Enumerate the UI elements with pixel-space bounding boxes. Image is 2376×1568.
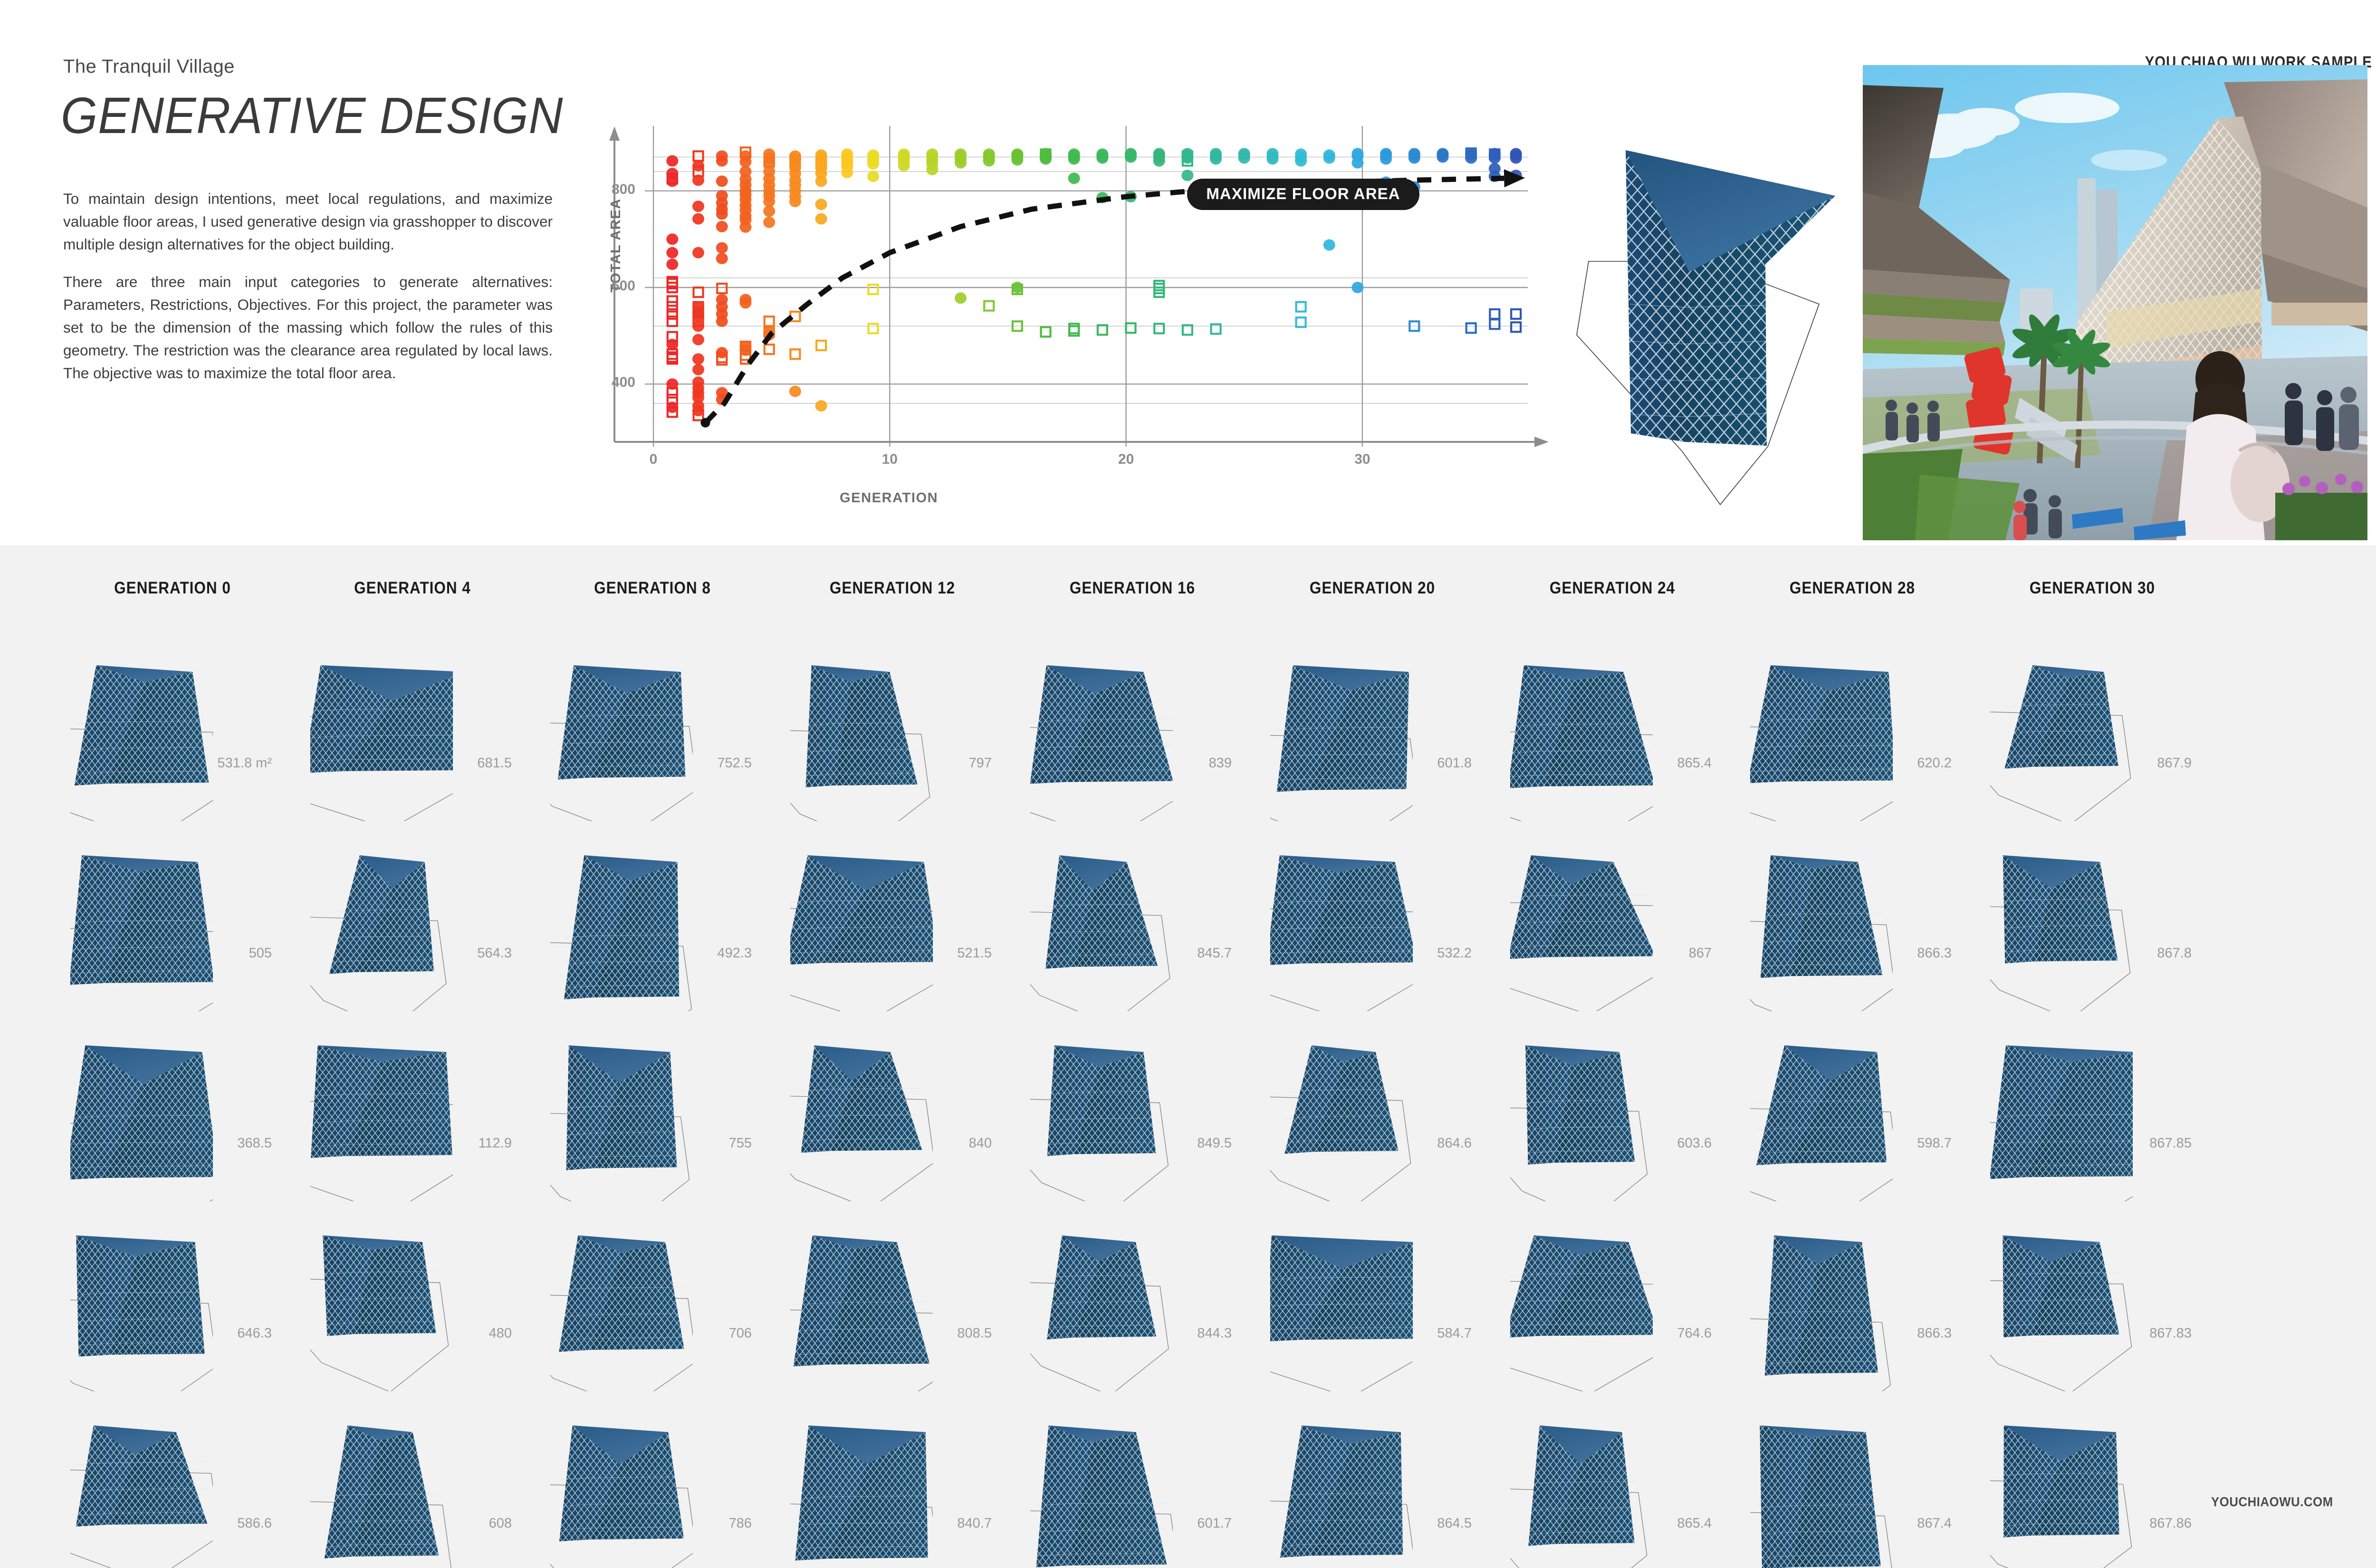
generation-cell[interactable]: 844.3 bbox=[1030, 1206, 1235, 1396]
generation-header-2: GENERATION 8 bbox=[561, 579, 745, 598]
cell-area-value: 864.5 bbox=[1437, 1516, 1472, 1531]
chart-gridlines bbox=[645, 126, 1528, 447]
cell-area-value: 867.83 bbox=[2149, 1326, 2192, 1341]
massing-thumbnail bbox=[1750, 1396, 1893, 1568]
generation-cell[interactable]: 764.6 bbox=[1510, 1206, 1715, 1396]
cell-area-value: 603.6 bbox=[1677, 1136, 1712, 1151]
generation-cell[interactable]: 531.8 m² bbox=[70, 636, 275, 826]
tower-massing bbox=[1761, 855, 1883, 978]
generation-cell[interactable]: 797 bbox=[790, 636, 995, 826]
tower-massing bbox=[1760, 1425, 1881, 1568]
generation-cell[interactable]: 603.6 bbox=[1510, 1016, 1715, 1206]
tower-massing bbox=[75, 665, 209, 785]
tower-massing bbox=[795, 1425, 928, 1560]
project-subtitle: The Tranquil Village bbox=[63, 56, 235, 77]
cell-area-value: 601.8 bbox=[1437, 755, 1472, 771]
cell-area-value: 521.5 bbox=[957, 946, 992, 961]
cell-area-value: 867.4 bbox=[1917, 1516, 1952, 1531]
tower-massing bbox=[1765, 1235, 1878, 1376]
massing-thumbnail bbox=[1750, 826, 1893, 1011]
tower-massing bbox=[794, 1235, 930, 1367]
x-tick-10: 10 bbox=[871, 451, 909, 468]
massing-thumbnail bbox=[1990, 1206, 2133, 1391]
tower-massing bbox=[1036, 1425, 1167, 1568]
cell-area-value: 646.3 bbox=[237, 1326, 272, 1341]
generation-scatter-chart: TOTAL AREA GENERATION 400600800 0102030 … bbox=[596, 81, 1585, 527]
generation-cell[interactable]: 532.2 bbox=[1270, 826, 1475, 1016]
tower-massing bbox=[559, 1235, 684, 1352]
tower-massing bbox=[1510, 1235, 1653, 1338]
cell-area-value: 786 bbox=[729, 1516, 752, 1531]
tower-massing bbox=[1284, 1045, 1398, 1154]
massing-thumbnail bbox=[1270, 1206, 1413, 1391]
massing-thumbnail bbox=[1990, 1016, 2133, 1201]
hero-massing-svg bbox=[1563, 119, 1868, 513]
massing-thumbnail bbox=[1750, 1206, 1893, 1391]
cell-area-value: 586.6 bbox=[237, 1516, 272, 1531]
cell-area-value: 764.6 bbox=[1677, 1326, 1712, 1341]
generation-cell[interactable]: 112.9 bbox=[310, 1016, 515, 1206]
massing-thumbnail bbox=[310, 636, 453, 821]
generation-cell[interactable]: 752.5 bbox=[550, 636, 755, 826]
cell-area-value: 532.2 bbox=[1437, 946, 1472, 961]
massing-thumbnail bbox=[70, 826, 213, 1011]
tower-massing bbox=[1525, 1045, 1635, 1165]
cell-area-value: 808.5 bbox=[957, 1326, 992, 1341]
generation-cell[interactable]: 584.7 bbox=[1270, 1206, 1475, 1396]
hero-massing-model bbox=[1563, 119, 1868, 513]
generation-cell[interactable]: 867.85 bbox=[1990, 1016, 2194, 1206]
cell-area-value: 598.7 bbox=[1917, 1136, 1952, 1151]
header-band: The Tranquil Village GENERATIVE DESIGN T… bbox=[0, 0, 2376, 539]
cell-area-value: 864.6 bbox=[1437, 1136, 1472, 1151]
tower-massing bbox=[1280, 1425, 1403, 1558]
generation-cell[interactable]: 840 bbox=[790, 1016, 995, 1206]
tower-massing bbox=[2003, 855, 2118, 963]
massing-thumbnail bbox=[1270, 1396, 1413, 1568]
generation-cell[interactable]: 521.5 bbox=[790, 826, 995, 1016]
cell-area-value: 865.4 bbox=[1677, 755, 1712, 771]
tower-massing bbox=[558, 665, 686, 780]
cell-area-value: 866.3 bbox=[1917, 946, 1952, 961]
cell-area-value: 564.3 bbox=[477, 946, 512, 961]
cell-area-value: 755 bbox=[729, 1136, 752, 1151]
massing-thumbnail bbox=[790, 636, 933, 821]
tower-massing bbox=[1270, 855, 1413, 965]
massing-thumbnail bbox=[790, 1396, 933, 1568]
massing-thumbnail bbox=[70, 1206, 213, 1391]
y-tick-600: 600 bbox=[583, 278, 635, 294]
tower-massing bbox=[559, 1425, 684, 1541]
tower-massing bbox=[566, 1045, 677, 1170]
tower-massing bbox=[2003, 1425, 2119, 1538]
generation-cell[interactable]: 849.5 bbox=[1030, 1016, 1235, 1206]
cell-area-value: 844.3 bbox=[1197, 1326, 1232, 1341]
massing-thumbnail bbox=[1270, 826, 1413, 1011]
generation-cell[interactable]: 867.9 bbox=[1990, 636, 2194, 826]
tower-massing bbox=[2004, 665, 2118, 769]
cell-area-value: 601.7 bbox=[1197, 1516, 1232, 1531]
tower-massing bbox=[564, 855, 679, 999]
generation-cell[interactable]: 867.83 bbox=[1990, 1206, 2194, 1396]
tower-massing bbox=[1990, 1045, 2133, 1179]
y-tick-800: 800 bbox=[583, 182, 635, 198]
generation-cell[interactable]: 620.2 bbox=[1750, 636, 1954, 826]
x-tick-0: 0 bbox=[634, 451, 672, 468]
tower-massing bbox=[1510, 665, 1653, 788]
generation-cell[interactable]: 865.4 bbox=[1510, 636, 1715, 826]
tower-massing bbox=[323, 1235, 436, 1336]
generation-cell[interactable]: 845.7 bbox=[1030, 826, 1235, 1016]
tower-massing bbox=[1047, 1235, 1156, 1339]
cell-area-value: 112.9 bbox=[479, 1136, 512, 1151]
tower-massing bbox=[1045, 855, 1158, 969]
generation-cell[interactable]: 598.7 bbox=[1750, 1016, 1954, 1206]
cell-area-value: 620.2 bbox=[1917, 755, 1952, 771]
cell-area-value: 867.8 bbox=[2157, 946, 2192, 961]
generation-cell[interactable]: 608 bbox=[310, 1396, 515, 1568]
cell-area-value: 368.5 bbox=[237, 1136, 272, 1151]
generation-header-7: GENERATION 28 bbox=[1761, 579, 1945, 598]
massing-thumbnail bbox=[70, 1396, 213, 1568]
cell-area-value: 840 bbox=[969, 1136, 992, 1151]
tower-massing bbox=[310, 665, 453, 773]
generation-cell[interactable]: 601.8 bbox=[1270, 636, 1475, 826]
massing-thumbnail bbox=[790, 1016, 933, 1201]
generation-cell[interactable]: 840.7 bbox=[790, 1396, 995, 1568]
generation-cell[interactable]: 866.3 bbox=[1750, 1206, 1954, 1396]
massing-thumbnail bbox=[1270, 1016, 1413, 1201]
tower-massing bbox=[1528, 1425, 1635, 1546]
foreground-flowers bbox=[2275, 474, 2367, 540]
tower-massing bbox=[1750, 665, 1893, 783]
description-paragraph-2: There are three main input categories to… bbox=[63, 271, 553, 384]
generation-cell[interactable]: 786 bbox=[550, 1396, 755, 1568]
cell-area-value: 505 bbox=[249, 946, 272, 961]
massing-thumbnail bbox=[310, 1016, 453, 1201]
tower-massing bbox=[325, 1425, 439, 1558]
generation-cell[interactable]: 505 bbox=[70, 826, 275, 1016]
cell-area-value: 797 bbox=[969, 755, 992, 771]
tower-massing bbox=[70, 1045, 213, 1180]
generation-cell[interactable]: 586.6 bbox=[70, 1396, 275, 1568]
generation-cell[interactable]: 867.8 bbox=[1990, 826, 2194, 1016]
cell-area-value: 840.7 bbox=[957, 1516, 992, 1531]
tower-massing bbox=[2002, 1235, 2119, 1337]
generation-cell[interactable]: 865.4 bbox=[1510, 1396, 1715, 1568]
massing-thumbnail bbox=[1510, 1396, 1653, 1568]
generation-cell[interactable]: 368.5 bbox=[70, 1016, 275, 1206]
render-illustration bbox=[1863, 65, 2367, 540]
massing-thumbnail bbox=[70, 636, 213, 821]
massing-thumbnail bbox=[1030, 1206, 1173, 1391]
cell-area-value: 865.4 bbox=[1677, 1516, 1712, 1531]
generation-cell[interactable]: 601.7 bbox=[1030, 1396, 1235, 1568]
massing-thumbnail bbox=[1030, 1016, 1173, 1201]
massing-thumbnail bbox=[550, 1206, 693, 1391]
massing-thumbnail bbox=[1270, 636, 1413, 821]
generation-cell[interactable]: 492.3 bbox=[550, 826, 755, 1016]
cell-area-value: 867.86 bbox=[2149, 1516, 2192, 1531]
tower-massing bbox=[76, 1235, 204, 1357]
cell-area-value: 706 bbox=[729, 1326, 752, 1341]
cell-area-value: 839 bbox=[1209, 755, 1232, 771]
massing-thumbnail bbox=[550, 1396, 693, 1568]
x-tick-20: 20 bbox=[1107, 451, 1145, 468]
tower-massing bbox=[790, 855, 933, 965]
architectural-render-photo bbox=[1863, 65, 2367, 540]
massing-thumbnail bbox=[1510, 636, 1653, 821]
x-tick-30: 30 bbox=[1343, 451, 1381, 468]
generation-cell[interactable]: 706 bbox=[550, 1206, 755, 1396]
generation-cell[interactable]: 867.4 bbox=[1750, 1396, 1954, 1568]
tower-massing bbox=[1277, 665, 1409, 792]
generation-cell[interactable]: 867 bbox=[1510, 826, 1715, 1016]
massing-thumbnail bbox=[310, 826, 453, 1011]
generation-cell[interactable]: 864.6 bbox=[1270, 1016, 1475, 1206]
massing-thumbnail bbox=[1510, 1016, 1653, 1201]
description-paragraph-1: To maintain design intentions, meet loca… bbox=[63, 188, 553, 256]
chart-canvas bbox=[596, 81, 1585, 527]
generation-cell[interactable]: 646.3 bbox=[70, 1206, 275, 1396]
generation-cell[interactable]: 867.86 bbox=[1990, 1396, 2194, 1568]
cell-area-value: 752.5 bbox=[717, 755, 752, 771]
generation-cell[interactable]: 564.3 bbox=[310, 826, 515, 1016]
cell-area-value: 867.9 bbox=[2157, 755, 2192, 771]
massing-thumbnail bbox=[1990, 826, 2133, 1011]
cell-area-value: 867 bbox=[1689, 946, 1712, 961]
generation-header-6: GENERATION 24 bbox=[1521, 579, 1705, 598]
generation-header-8: GENERATION 30 bbox=[2001, 579, 2184, 598]
generation-grid-panel: GENERATION 0GENERATION 4GENERATION 8GENE… bbox=[0, 545, 2376, 1568]
generation-header-3: GENERATION 12 bbox=[801, 579, 985, 598]
generation-header-5: GENERATION 20 bbox=[1281, 579, 1465, 598]
massing-thumbnail bbox=[1510, 826, 1653, 1011]
cell-area-value: 867.85 bbox=[2149, 1136, 2192, 1151]
cell-area-value: 480 bbox=[489, 1326, 512, 1341]
generation-cell[interactable]: 864.5 bbox=[1270, 1396, 1475, 1568]
tower-massing bbox=[801, 1045, 922, 1153]
massing-thumbnail bbox=[550, 636, 693, 821]
page-title: GENERATIVE DESIGN bbox=[61, 86, 563, 145]
massing-thumbnail bbox=[1030, 1396, 1173, 1568]
cell-area-value: 845.7 bbox=[1197, 946, 1232, 961]
generation-cell[interactable]: 480 bbox=[310, 1206, 515, 1396]
massing-thumbnail bbox=[790, 1206, 933, 1391]
cell-area-value: 584.7 bbox=[1437, 1326, 1472, 1341]
tower-massing bbox=[70, 855, 213, 985]
generation-header-1: GENERATION 4 bbox=[321, 579, 505, 598]
generation-header-4: GENERATION 16 bbox=[1041, 579, 1225, 598]
tower-massing bbox=[1047, 1045, 1156, 1156]
cell-area-value: 681.5 bbox=[477, 755, 512, 771]
massing-thumbnail bbox=[1750, 636, 1893, 821]
tower-massing bbox=[311, 1045, 452, 1158]
generation-cell[interactable]: 866.3 bbox=[1750, 826, 1954, 1016]
generation-header-0: GENERATION 0 bbox=[81, 579, 265, 598]
cell-area-value: 608 bbox=[489, 1516, 512, 1531]
massing-thumbnail bbox=[70, 1016, 213, 1201]
cell-area-value: 531.8 m² bbox=[218, 755, 272, 771]
massing-thumbnail bbox=[1030, 636, 1173, 821]
cell-area-value: 866.3 bbox=[1917, 1326, 1952, 1341]
y-tick-400: 400 bbox=[583, 374, 635, 391]
massing-thumbnail bbox=[1990, 636, 2133, 821]
site-url-footer: YOUCHIAOWU.COM bbox=[2211, 1494, 2333, 1510]
generation-cell[interactable]: 681.5 bbox=[310, 636, 515, 826]
tower-massing bbox=[805, 665, 917, 787]
massing-thumbnail bbox=[1750, 1016, 1893, 1201]
tower-massing bbox=[1510, 855, 1653, 959]
objective-annotation-badge: MAXIMIZE FLOOR AREA bbox=[1187, 179, 1419, 210]
tower-massing bbox=[1270, 1235, 1413, 1341]
generation-cell[interactable]: 755 bbox=[550, 1016, 755, 1206]
massing-thumbnail bbox=[1030, 826, 1173, 1011]
massing-thumbnail bbox=[1990, 1396, 2133, 1568]
massing-thumbnail bbox=[1510, 1206, 1653, 1391]
massing-thumbnail bbox=[550, 826, 693, 1011]
massing-thumbnail bbox=[790, 826, 933, 1011]
cell-area-value: 492.3 bbox=[717, 946, 752, 961]
generation-cell[interactable]: 839 bbox=[1030, 636, 1235, 826]
tower-massing bbox=[329, 855, 434, 974]
massing-thumbnail bbox=[310, 1396, 453, 1568]
tower-massing bbox=[76, 1425, 208, 1527]
presentation-board: The Tranquil Village GENERATIVE DESIGN T… bbox=[0, 0, 2376, 1568]
massing-thumbnail bbox=[550, 1016, 693, 1201]
generation-cell[interactable]: 808.5 bbox=[790, 1206, 995, 1396]
massing-thumbnail bbox=[310, 1206, 453, 1391]
tower-massing bbox=[1030, 665, 1173, 784]
x-axis-label: GENERATION bbox=[840, 490, 938, 506]
cell-area-value: 849.5 bbox=[1197, 1136, 1232, 1151]
tower-massing bbox=[1756, 1045, 1887, 1165]
